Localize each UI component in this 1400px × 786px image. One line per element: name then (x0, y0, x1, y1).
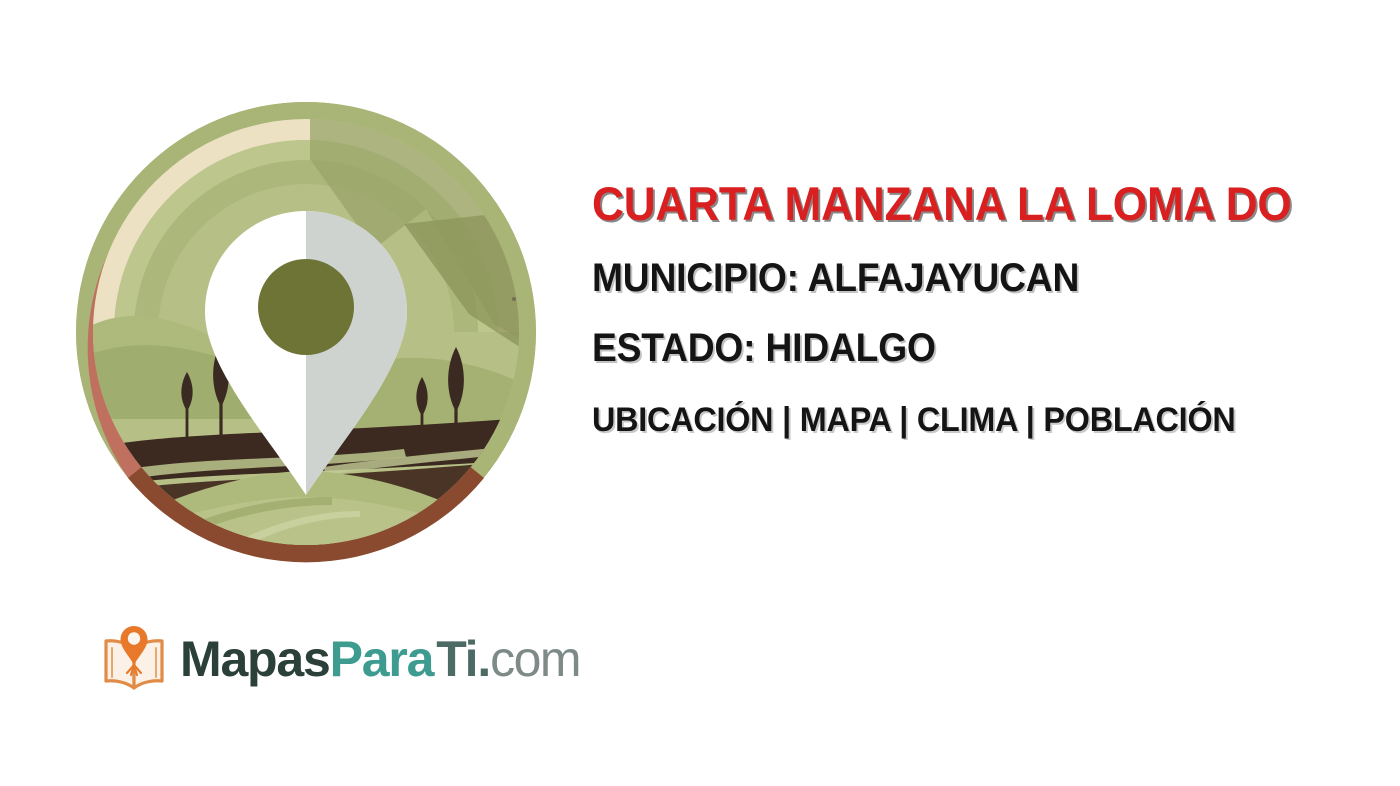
page-title: CUARTA MANZANA LA LOMA DO (592, 176, 1400, 232)
poster-canvas: CUARTA MANZANA LA LOMA DO MUNICIPIO: ALF… (0, 0, 1400, 786)
municipio-line: MUNICIPIO: ALFAJAYUCAN (592, 254, 1400, 302)
brand-logo[interactable]: MapasPara Ti.com (98, 620, 580, 698)
location-info-block: CUARTA MANZANA LA LOMA DO MUNICIPIO: ALF… (592, 176, 1400, 441)
brand-wordmark: MapasPara Ti.com (180, 630, 580, 688)
brand-part-para: Para (330, 631, 434, 687)
circular-landscape-map-pin-emblem (74, 99, 538, 565)
open-book-with-map-pin-icon (98, 625, 170, 693)
brand-part-mapas: Mapas (180, 631, 330, 687)
estado-line: ESTADO: HIDALGO (592, 324, 1400, 372)
brand-part-ti: Ti. (436, 631, 490, 687)
brand-part-dotcom: com (490, 631, 580, 687)
section-links[interactable]: UBICACIÓN | MAPA | CLIMA | POBLACIÓN (592, 399, 1400, 441)
